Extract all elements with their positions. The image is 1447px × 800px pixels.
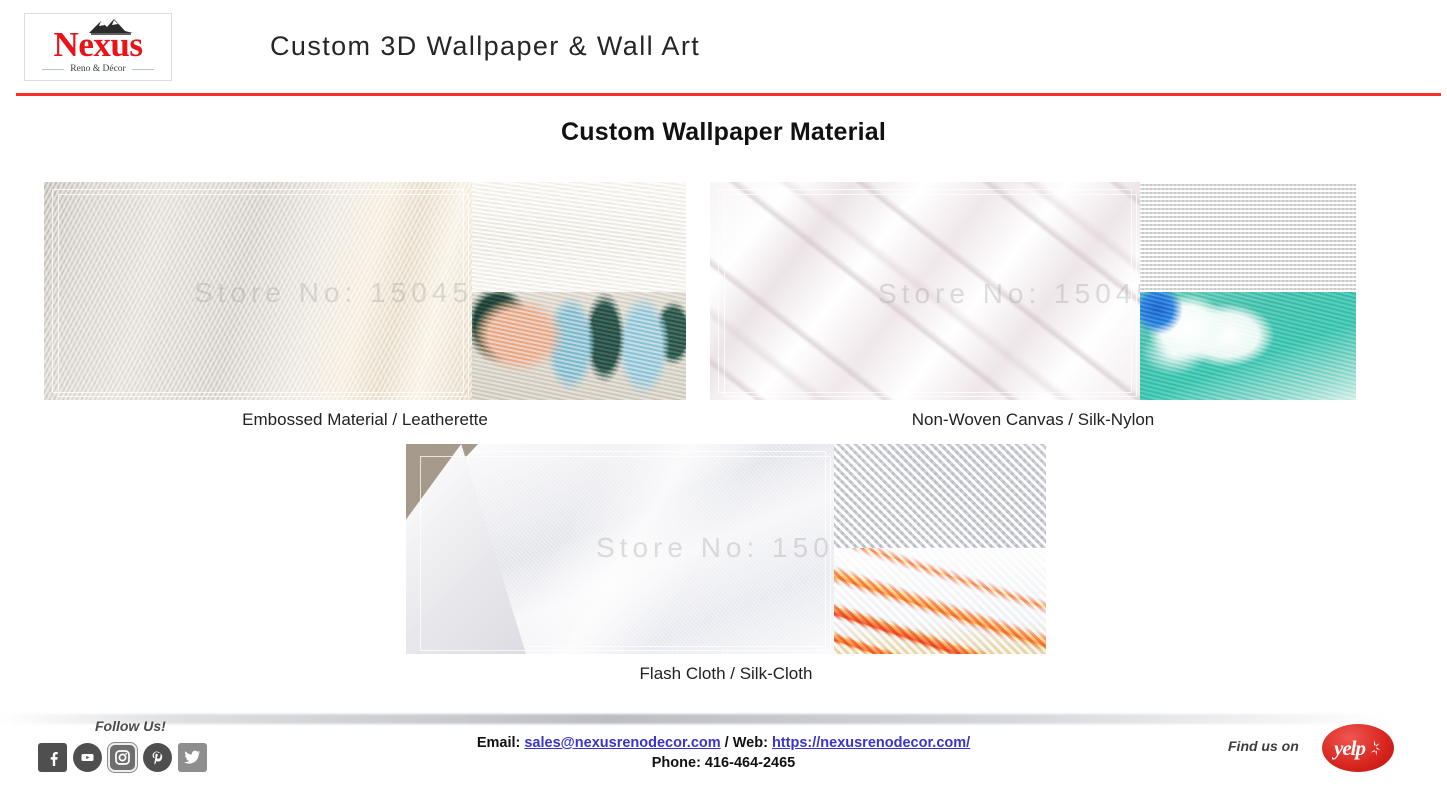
follow-us-label: Follow Us! (95, 718, 166, 734)
store-watermark: Store No: 1504588 (194, 277, 472, 309)
find-us-on-label: Find us on (1228, 738, 1299, 754)
footer-divider (0, 714, 1447, 724)
page-title: Custom 3D Wallpaper & Wall Art (270, 31, 700, 62)
flashcloth-side-stack (834, 444, 1046, 654)
yelp-wordmark: yelp (1334, 736, 1365, 761)
red-stripe-photo[interactable] (834, 548, 1046, 654)
logo-wordmark: Nexus (25, 26, 171, 64)
section-title: Custom Wallpaper Material (0, 118, 1447, 147)
email-label: Email: (477, 735, 521, 751)
material-group-flashcloth: Store No: 1504588 Flash Cloth / Silk-Clo… (406, 444, 1046, 654)
contact-separator: / (725, 735, 733, 751)
yelp-burst-icon (1367, 739, 1382, 757)
logo-tagline: Reno & Décor (70, 64, 125, 74)
phone-line: Phone: 416-464-2465 (0, 753, 1447, 773)
web-label: Web: (733, 735, 768, 751)
floral-print-photo[interactable] (472, 292, 686, 400)
dot-weave-photo[interactable] (834, 444, 1046, 548)
teal-floral-photo[interactable] (1140, 292, 1356, 400)
website-link[interactable]: https://nexusrenodecor.com/ (772, 735, 970, 751)
tagline-rule-left (42, 69, 64, 70)
logo-tagline-row: Reno & Décor (25, 64, 171, 74)
flash-cloth-photo[interactable]: Store No: 1504588 (406, 444, 834, 654)
material-group-embossed: Store No: 1504588 Embossed Material / Le… (44, 182, 686, 400)
tagline-rule-right (132, 69, 154, 70)
slide-page: Nexus Reno & Décor Custom 3D Wallpaper &… (0, 0, 1447, 800)
embossed-roll-photo[interactable]: Store No: 1504588 (44, 182, 472, 400)
material-group-images: Store No: 1504588 (44, 182, 686, 400)
woven-mesh-photo[interactable] (1140, 182, 1356, 292)
material-group-images: Store No: 1504588 (406, 444, 1046, 654)
material-caption: Embossed Material / Leatherette (44, 410, 686, 430)
material-group-images: Store No: 1504588 (710, 182, 1356, 400)
yelp-badge[interactable]: yelp (1322, 724, 1394, 772)
embossed-plain-photo[interactable] (472, 182, 686, 292)
header-divider (16, 93, 1441, 96)
nonwoven-side-stack (1140, 182, 1356, 400)
silk-fabric-photo[interactable]: Store No: 1504588 (710, 182, 1140, 400)
material-caption: Flash Cloth / Silk-Cloth (406, 664, 1046, 684)
store-watermark: Store No: 1504588 (596, 532, 834, 564)
embossed-side-stack (472, 182, 686, 400)
company-logo[interactable]: Nexus Reno & Décor (24, 13, 172, 81)
email-link[interactable]: sales@nexusrenodecor.com (524, 735, 720, 751)
page-header: Nexus Reno & Décor Custom 3D Wallpaper &… (0, 0, 1447, 98)
material-group-nonwoven: Store No: 1504588 Non-Woven Canvas / Sil… (710, 182, 1356, 400)
material-caption: Non-Woven Canvas / Silk-Nylon (710, 410, 1356, 430)
store-watermark: Store No: 1504588 (878, 278, 1140, 310)
